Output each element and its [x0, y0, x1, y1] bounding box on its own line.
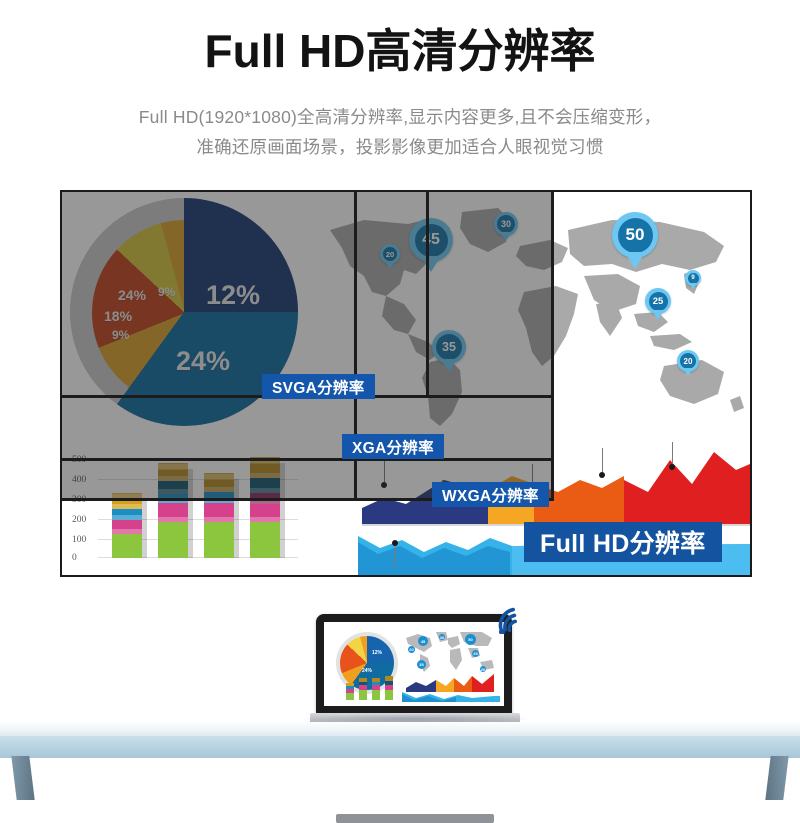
mini-bar-chart [338, 674, 398, 700]
mini-area-chart [402, 674, 500, 702]
map-pin-20-australia[interactable]: 20 [677, 350, 699, 372]
bar-ytick-400: 400 [72, 475, 96, 485]
map-pin-label: 45 [415, 224, 448, 257]
map-pin-30[interactable]: 30 [494, 212, 518, 236]
map-pin-20-west[interactable]: 20 [380, 244, 400, 264]
laptop-screen: 45 20 30 35 50 25 20 12% 24% [324, 622, 504, 706]
map-pin-50[interactable]: 50 [612, 212, 658, 258]
page-title: Full HD高清分辨率 [0, 26, 800, 77]
desk-edge [0, 736, 800, 758]
header: Full HD高清分辨率 Full HD(1920*1080)全高清分辨率,显示… [0, 0, 800, 180]
bar-ytick-200: 200 [72, 515, 96, 525]
map-pin-9-japan[interactable]: 9 [685, 270, 701, 286]
callout-dot [599, 472, 605, 478]
projection-screen: 20 45 30 35 [60, 190, 752, 577]
map-pin-35[interactable]: 35 [432, 330, 466, 364]
projection-screen-content: 20 45 30 35 [62, 192, 750, 575]
resolution-tag-wxga[interactable]: WXGA分辨率 [432, 482, 549, 507]
mini-map-pin: 25 [472, 650, 479, 657]
pie-label-9-lower: 9% [112, 328, 129, 342]
map-pin-label: 30 [497, 215, 515, 233]
wifi-icon [492, 598, 534, 634]
mini-map-pin: 20 [408, 646, 415, 653]
bar-column-3 [204, 479, 234, 558]
mini-map-pin: 50 [465, 634, 476, 645]
bar-ytick-100: 100 [72, 535, 96, 545]
bar-column-2 [158, 469, 188, 558]
mini-map-pin: 20 [480, 666, 486, 672]
map-pin-25[interactable]: 25 [645, 288, 671, 314]
bar-column-4 [250, 463, 280, 558]
map-pin-45[interactable]: 45 [409, 218, 453, 262]
callout-dot [669, 464, 675, 470]
callout-stem [395, 546, 396, 568]
mini-map-pin: 45 [418, 636, 428, 646]
subtitle-line-2: 准确还原画面场景，投影影像更加适合人眼视觉习惯 [0, 134, 800, 159]
bar-ytick-500: 500 [72, 455, 96, 465]
bar-ytick-0: 0 [72, 553, 96, 563]
pie-label-9-gold: 9% [158, 285, 175, 299]
resolution-tag-svga[interactable]: SVGA分辨率 [262, 374, 375, 399]
mini-pie-label-12: 12% [372, 650, 382, 656]
bar-ytick-300: 300 [72, 495, 96, 505]
map-pin-label: 9 [688, 273, 699, 284]
mini-map-pin: 30 [439, 634, 445, 640]
callout-dot [381, 482, 387, 488]
map-pin-label: 20 [680, 353, 696, 369]
laptop-keyboard [336, 814, 494, 823]
desk-leg-left [11, 756, 34, 800]
subtitle-line-1: Full HD(1920*1080)全高清分辨率,显示内容更多,且不会压缩变形， [0, 104, 800, 129]
map-pin-label: 25 [649, 292, 668, 311]
map-pin-label: 20 [383, 247, 397, 261]
bar-column-1 [112, 499, 142, 558]
pie-label-24-yellow: 24% [118, 287, 146, 303]
desk-surface [0, 722, 800, 736]
pie-label-18: 18% [104, 308, 132, 324]
pie-label-24-blue: 24% [176, 346, 230, 377]
resolution-tag-xga[interactable]: XGA分辨率 [342, 434, 444, 459]
pie-label-12: 12% [206, 280, 260, 311]
laptop-lid: 45 20 30 35 50 25 20 12% 24% [316, 614, 512, 714]
resolution-tag-fullhd[interactable]: Full HD分辨率 [524, 522, 722, 562]
bar-chart: 500 400 300 200 100 0 [72, 444, 300, 570]
map-pin-label: 50 [618, 218, 653, 253]
desk-leg-right [765, 756, 788, 800]
mini-map-pin: 35 [417, 660, 426, 669]
map-pin-label: 35 [436, 334, 462, 360]
dashboard-artwork: 20 45 30 35 [62, 192, 750, 575]
world-map [312, 200, 750, 430]
